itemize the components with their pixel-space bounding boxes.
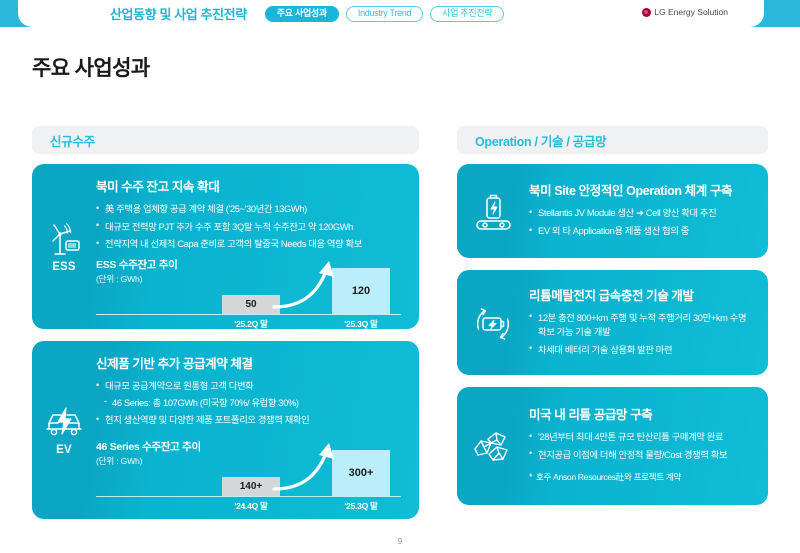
chart-46series-bar-2: 300+ <box>332 450 390 496</box>
chart-ess-xlabel-1: '25.2Q 말 <box>222 318 280 329</box>
card-technology-title: 리튬메탈전지 급속충전 기술 개발 <box>529 285 754 304</box>
nav-pill-strategy[interactable]: 사업 추진전략 <box>430 6 504 22</box>
right-column: Operation / 기술 / 공급망 북미 Site 안정적인 Operat… <box>457 126 768 505</box>
chart-ess-backlog: ESS 수주잔고 추이 (단위 : GWh) 50 120 <box>96 257 405 329</box>
chart-46series-bar-1-value: 140+ <box>240 481 263 492</box>
top-bar: 산업동향 및 사업 추진전략 주요 사업성과 Industry Trend 사업… <box>0 0 800 27</box>
list-item: 현지 생산역량 및 다양한 제품 포트폴리오 경쟁력 재확인 <box>96 413 405 427</box>
card-operation-title: 북미 Site 안정적인 Operation 체계 구축 <box>529 180 754 199</box>
list-item: 대규모 전력망 PJT 추가 수주 포함 3Q말 누적 수주잔고 약 120GW… <box>96 220 405 234</box>
chart-ess-bar-1: 50 <box>222 295 280 314</box>
fast-charge-battery-cycle-icon <box>472 303 514 345</box>
top-bar-title: 산업동향 및 사업 추진전략 <box>110 4 247 23</box>
lg-logo-icon <box>642 8 651 17</box>
chart-46series-xlabel-1: '24.4Q 말 <box>222 500 280 512</box>
ev-car-bolt-icon <box>45 407 83 441</box>
wind-turbine-battery-icon <box>47 222 81 258</box>
card-supply-chain: 미국 내 리튬 공급망 구축 '28년부터 최대 4만톤 규모 탄산리튬 구매계… <box>457 387 768 505</box>
card-operation-bullets: Stellantis JV Module 생산 ➔ Cell 양산 확대 추진 … <box>529 206 754 238</box>
nav-pill-performance[interactable]: 주요 사업성과 <box>265 6 339 22</box>
card-technology: 리튬메탈전지 급속충전 기술 개발 12분 충전 800+km 주행 및 누적 … <box>457 270 768 375</box>
list-item-sub: 46 Series: 총 107GWh (미국향 70%/ 유럽향 30%) <box>96 396 405 410</box>
card-ev: EV 신제품 기반 추가 공급계약 체결 대규모 공급계약으로 원통형 고객 다… <box>32 341 419 519</box>
chart-46series-plot: 140+ 300+ '24.4Q 말 '25.3Q 말 <box>96 439 405 513</box>
list-item: 차세대 배터리 기술 상용화 발판 마련 <box>529 343 754 357</box>
card-ev-icon-area: EV <box>32 341 96 519</box>
chart-46series-axis <box>96 496 401 497</box>
chart-46series-backlog: 46 Series 수주잔고 추이 (단위 : GWh) 140+ 300+ <box>96 439 405 513</box>
card-ev-title: 신제품 기반 추가 공급계약 체결 <box>96 353 405 372</box>
battery-conveyor-icon <box>474 192 512 232</box>
card-operation: 북미 Site 안정적인 Operation 체계 구축 Stellantis … <box>457 164 768 258</box>
card-supply-chain-body: 미국 내 리튬 공급망 구축 '28년부터 최대 4만톤 규모 탄산리튬 구매계… <box>529 394 768 497</box>
nav-pill-industry-trend[interactable]: Industry Trend <box>346 6 423 22</box>
card-technology-body: 리튬메탈전지 급속충전 기술 개발 12분 충전 800+km 주행 및 누적 … <box>529 275 768 370</box>
card-ess-body: 북미 수주 잔고 지속 확대 美 주택용 업체향 공급 계약 체결 ('25~'… <box>96 164 419 329</box>
list-item: 현지공급 이점에 더해 안정적 물량/Cost 경쟁력 확보 <box>529 448 754 462</box>
card-technology-bullets: 12분 충전 800+km 주행 및 누적 주행거리 30만+km 수명 확보 … <box>529 311 754 357</box>
slide-root: 산업동향 및 사업 추진전략 주요 사업성과 Industry Trend 사업… <box>0 0 800 553</box>
card-ev-body: 신제품 기반 추가 공급계약 체결 대규모 공급계약으로 원통형 고객 다변화 … <box>96 341 419 519</box>
section-header-new-orders: 신규수주 <box>32 126 419 154</box>
card-operation-icon-area <box>457 190 529 232</box>
chart-46series-xlabel-2: '25.3Q 말 <box>332 500 390 512</box>
list-item: 대규모 공급계약으로 원통형 고객 다변화 <box>96 379 405 393</box>
card-operation-body: 북미 Site 안정적인 Operation 체계 구축 Stellantis … <box>529 170 768 251</box>
left-column: 신규수주 <box>32 126 419 519</box>
card-ess-title: 북미 수주 잔고 지속 확대 <box>96 176 405 195</box>
list-item: 美 주택용 업체향 공급 계약 체결 ('25~'30년간 13GWh) <box>96 202 405 216</box>
card-supply-chain-bullets: '28년부터 최대 4만톤 규모 탄산리튬 구매계약 완료 현지공급 이점에 더… <box>529 430 754 484</box>
chart-46series-bar-2-value: 300+ <box>349 467 374 479</box>
card-supply-chain-icon-area <box>457 428 529 464</box>
chart-ess-bar-2: 120 <box>332 268 390 314</box>
brand-logo: LG Energy Solution <box>642 7 728 17</box>
top-bar-plate: 산업동향 및 사업 추진전략 주요 사업성과 Industry Trend 사업… <box>18 0 764 27</box>
list-item: '28년부터 최대 4만톤 규모 탄산리튬 구매계약 완료 <box>529 430 754 444</box>
list-item: Stellantis JV Module 생산 ➔ Cell 양산 확대 추진 <box>529 206 754 220</box>
lithium-rocks-icon <box>472 430 514 464</box>
card-ev-bullets: 대규모 공급계약으로 원통형 고객 다변화 46 Series: 총 107GW… <box>96 379 405 427</box>
brand-name: LG Energy Solution <box>654 7 728 17</box>
card-ess-icon-label: ESS <box>52 261 76 273</box>
card-ess-bullets: 美 주택용 업체향 공급 계약 체결 ('25~'30년간 13GWh) 대규모… <box>96 202 405 251</box>
card-ev-icon-label: EV <box>56 444 72 456</box>
page-number: 9 <box>0 537 800 546</box>
list-item: EV 외 타 Application용 제품 생산 협의 중 <box>529 224 754 238</box>
list-item: 12분 충전 800+km 주행 및 누적 주행거리 30만+km 수명 확보 … <box>529 311 754 339</box>
page-title: 주요 사업성과 <box>32 52 150 82</box>
nav-pills: 주요 사업성과 Industry Trend 사업 추진전략 <box>265 6 505 22</box>
chart-ess-axis <box>96 314 401 315</box>
list-item-note: 호주 Anson Resources社와 프로젝트 계약 <box>529 471 754 484</box>
list-item: 전략지역 내 선제적 Capa 준비로 고객의 탈중국 Needs 대응 역량 … <box>96 237 405 251</box>
chart-ess-plot: 50 120 '25.2Q 말 '25.3Q 말 <box>96 257 405 329</box>
chart-ess-xlabel-2: '25.3Q 말 <box>332 318 390 329</box>
chart-ess-bar-2-value: 120 <box>352 285 370 297</box>
chart-ess-bar-1-value: 50 <box>245 299 256 310</box>
card-ess: ESS 북미 수주 잔고 지속 확대 美 주택용 업체향 공급 계약 체결 ('… <box>32 164 419 329</box>
card-supply-chain-title: 미국 내 리튬 공급망 구축 <box>529 404 754 423</box>
chart-46series-bar-1: 140+ <box>222 477 280 496</box>
section-header-operation: Operation / 기술 / 공급망 <box>457 126 768 154</box>
card-technology-icon-area <box>457 301 529 345</box>
card-ess-icon-area: ESS <box>32 164 96 329</box>
